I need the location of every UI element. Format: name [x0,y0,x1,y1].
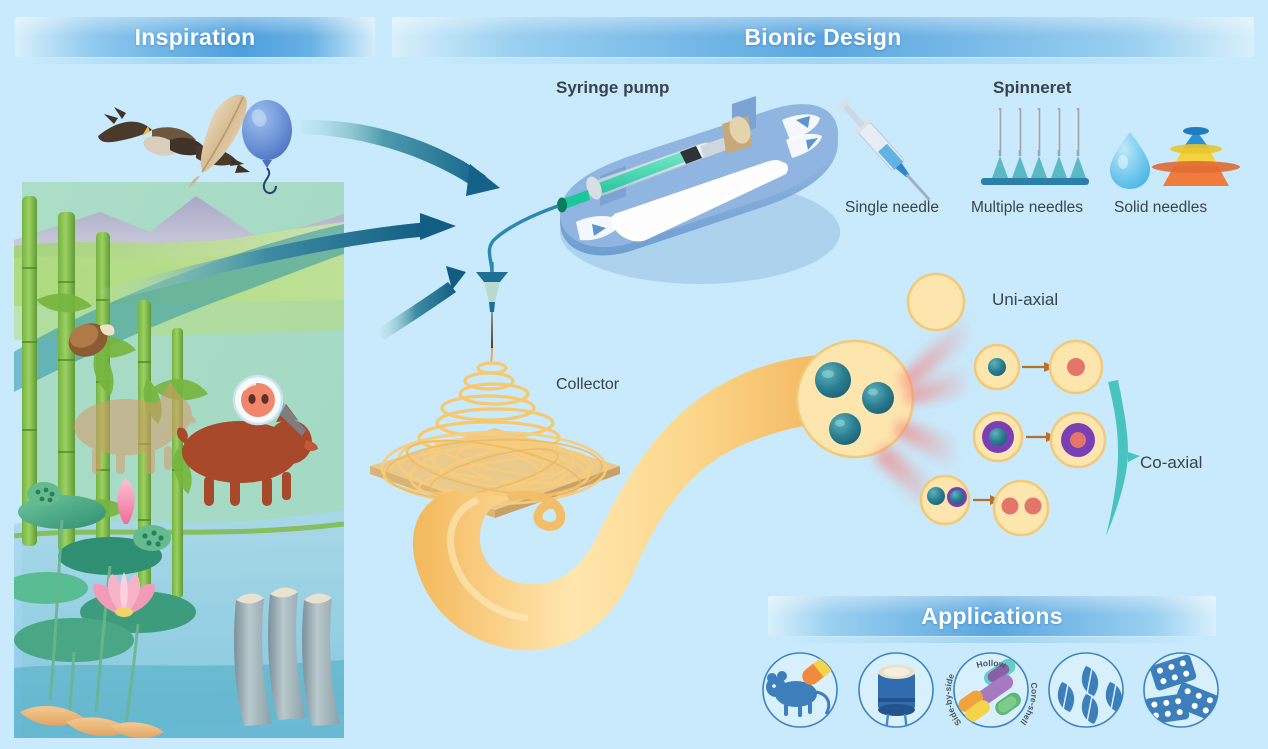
fiber-uniaxial [908,274,964,330]
label-uni-axial: Uni-axial [992,290,1058,310]
label-multiple-needles: Multiple needles [971,199,1083,217]
inspiration-scene [4,95,344,739]
banner-applications: Applications [768,596,1216,636]
label-solid-needles: Solid needles [1114,199,1207,217]
tube-icon [234,587,340,726]
banner-inspiration: Inspiration [15,17,375,57]
label-co-axial: Co-axial [1140,453,1202,473]
banner-title-bionic-design: Bionic Design [744,24,901,51]
label-collector: Collector [556,376,619,394]
label-spinneret: Spinneret [993,78,1071,98]
banner-underline [781,637,1202,643]
banner-underline [418,58,1228,64]
label-single-needle: Single needle [845,199,939,217]
banner-title-applications: Applications [921,603,1063,630]
banner-title-inspiration: Inspiration [135,24,256,51]
banner-bionic-design: Bionic Design [392,17,1254,57]
fiber-cross-section-magnified [797,341,913,457]
banner-underline [26,58,364,64]
figure-canvas: Hollow Side-by-side Core-shell [0,0,1268,749]
label-syringe-pump: Syringe pump [556,78,669,98]
